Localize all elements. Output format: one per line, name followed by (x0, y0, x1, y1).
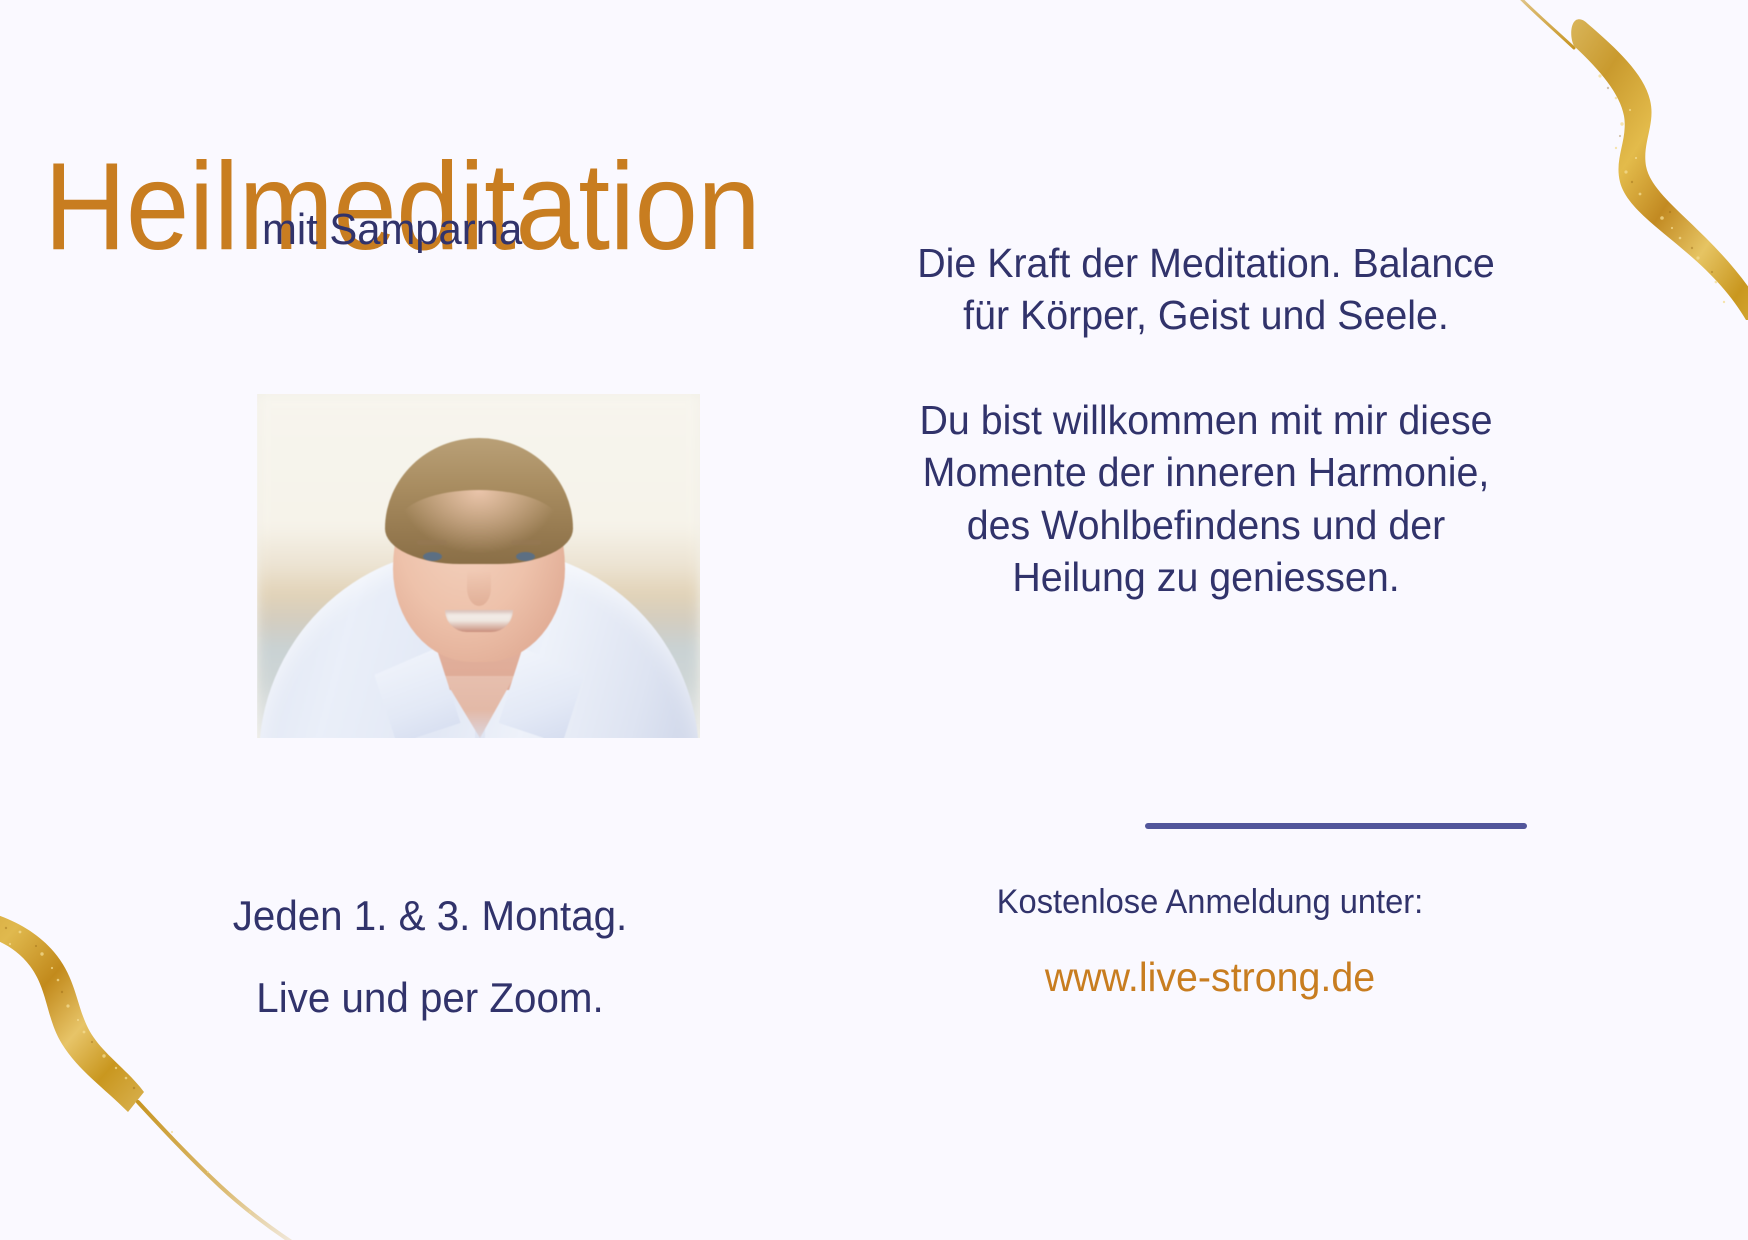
description-paragraph-1: Die Kraft der Meditation. Balance für Kö… (901, 237, 1512, 342)
divider-rule (1145, 823, 1527, 829)
portrait-blur-overlay (257, 394, 700, 738)
description-paragraph-2: Du bist willkommen mit mir diese Momente… (901, 394, 1512, 604)
description-block: Die Kraft der Meditation. Balance für Kö… (901, 196, 1512, 645)
schedule-block: Jeden 1. & 3. Montag. Live und per Zoom. (152, 895, 709, 1019)
signup-url-link[interactable]: www.live-strong.de (932, 957, 1489, 998)
schedule-line-2: Live und per Zoom. (152, 977, 709, 1019)
schedule-line-1: Jeden 1. & 3. Montag. (152, 895, 709, 937)
poster-canvas: Heilmeditation mit Samparna Die Kraft de… (0, 0, 1748, 1240)
gold-brush-stroke-icon (0, 820, 392, 1240)
presenter-portrait-image (257, 394, 700, 738)
subtitle: mit Samparna (262, 205, 522, 256)
signup-block: Kostenlose Anmeldung unter: www.live-str… (932, 885, 1489, 998)
signup-label: Kostenlose Anmeldung unter: (932, 885, 1489, 919)
